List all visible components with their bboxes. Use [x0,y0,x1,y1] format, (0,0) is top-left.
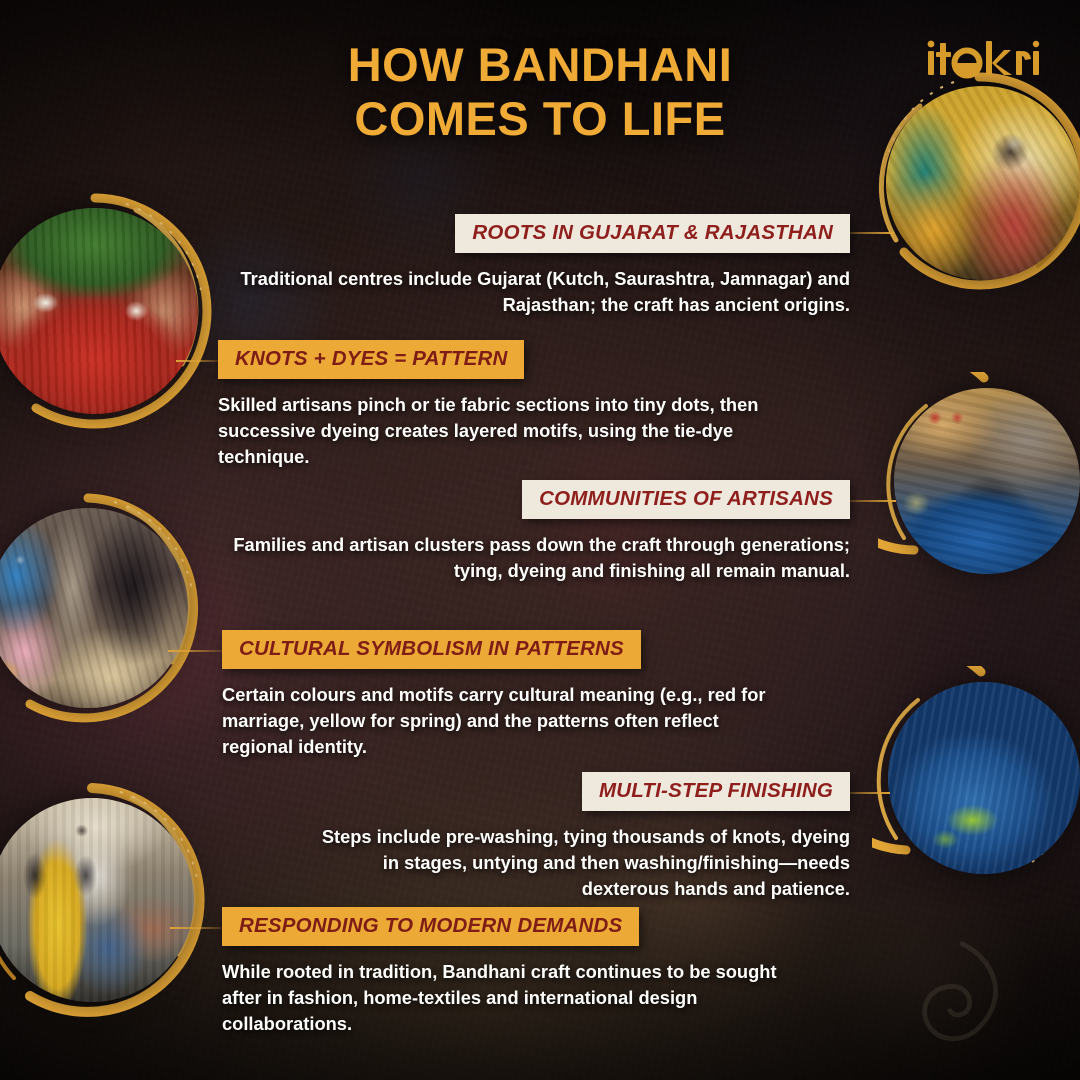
section-communities: COMMUNITIES OF ARTISANS Families and art… [215,480,850,584]
photo-yellow-cloth-image [0,798,194,1002]
page-title: HOW BANDHANI COMES TO LIFE [0,38,1080,145]
connector-knots [176,360,220,362]
section-knots-dyes: KNOTS + DYES = PATTERN Skilled artisans … [218,340,838,470]
section-modern-demands-body: While rooted in tradition, Bandhani craf… [222,959,782,1037]
photo-hands-knots-image [0,208,198,414]
itokri-wordmark-icon [926,39,1042,81]
photo-elder-women [0,508,188,708]
title-line-2: COMES TO LIFE [180,92,900,146]
section-knots-dyes-tag: KNOTS + DYES = PATTERN [218,340,524,379]
photo-yellow-cloth [0,798,194,1002]
section-communities-tag: COMMUNITIES OF ARTISANS [522,480,850,519]
photo-indigo-vat [888,682,1080,874]
section-symbolism-tag: CULTURAL SYMBOLISM IN PATTERNS [222,630,641,669]
section-roots-body: Traditional centres include Gujarat (Kut… [225,266,850,318]
connector-modern [170,927,222,929]
section-finishing: MULTI-STEP FINISHING Steps include pre-w… [215,772,850,902]
section-symbolism: CULTURAL SYMBOLISM IN PATTERNS Certain c… [222,630,842,760]
photo-indigo-vat-image [888,682,1080,874]
section-communities-body: Families and artisan clusters pass down … [225,532,850,584]
photo-hands-knots [0,208,198,414]
section-symbolism-body: Certain colours and motifs carry cultura… [222,682,767,760]
section-finishing-body: Steps include pre-washing, tying thousan… [320,824,850,902]
section-modern-demands: RESPONDING TO MODERN DEMANDS While roote… [222,907,842,1037]
infographic-poster: HOW BANDHANI COMES TO LIFE [0,0,1080,1080]
photo-elder-women-image [0,508,188,708]
brand-logo[interactable] [926,38,1042,82]
photo-dyer-tub [894,388,1080,574]
photo-dyer-tub-image [894,388,1080,574]
section-roots-tag: ROOTS IN GUJARAT & RAJASTHAN [455,214,850,253]
section-roots: ROOTS IN GUJARAT & RAJASTHAN Traditional… [215,214,850,318]
title-line-1: HOW BANDHANI [180,38,900,92]
section-finishing-tag: MULTI-STEP FINISHING [582,772,850,811]
section-modern-demands-tag: RESPONDING TO MODERN DEMANDS [222,907,639,946]
section-knots-dyes-body: Skilled artisans pinch or tie fabric sec… [218,392,778,470]
paisley-motif-icon [902,934,1022,1054]
connector-symbolism [168,650,222,652]
